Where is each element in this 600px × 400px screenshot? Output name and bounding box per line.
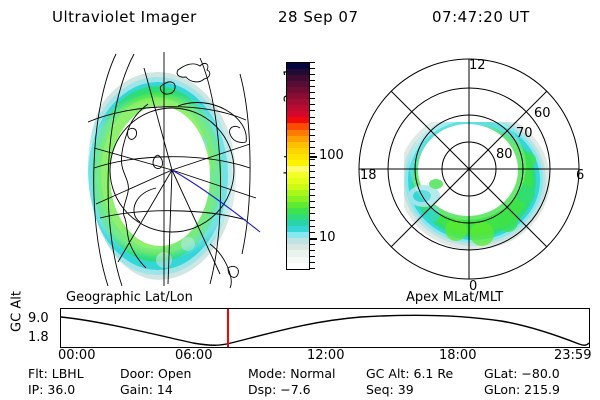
- header-bar: Ultraviolet Imager 28 Sep 07 07:47:20 UT: [0, 8, 600, 32]
- mlt-spokes: [359, 59, 579, 279]
- colorbar-tick: [309, 232, 315, 233]
- colorbar-tick: [309, 117, 315, 118]
- colorbar-gradient: [286, 62, 310, 270]
- colorbar-tick: [309, 135, 315, 136]
- colorbar-tick: [309, 220, 315, 221]
- telemetry-field: Dsp: −7.6: [248, 382, 311, 397]
- colorbar-tick: [309, 68, 315, 69]
- orbit-altitude-plot[interactable]: [60, 308, 590, 348]
- telemetry-field: IP: 36.0: [28, 382, 75, 397]
- geographic-plot: [60, 48, 260, 288]
- mlt-hour-label: 18: [360, 168, 377, 183]
- colorbar-tick: [309, 123, 315, 124]
- magnetic-latitude-label: 60: [534, 106, 551, 121]
- observation-time: 07:47:20 UT: [432, 8, 530, 26]
- orbit-y-tick-low: 1.8: [28, 331, 49, 344]
- colorbar-tick: [309, 201, 315, 202]
- instrument-title: Ultraviolet Imager: [52, 8, 197, 26]
- orbit-altitude-curve: [61, 309, 589, 347]
- colorbar-tick: [309, 195, 315, 196]
- colorbar-tick: [309, 171, 315, 172]
- colorbar-tick: [309, 207, 315, 208]
- colorbar-tick: [309, 262, 315, 263]
- magnetic-latitude-label: 70: [516, 126, 533, 141]
- colorbar-tick: [309, 256, 315, 257]
- caption-apex: Apex MLat/MLT: [406, 290, 503, 305]
- colorbar-tick: [309, 153, 315, 154]
- telemetry-field: Flt: LBHL: [28, 366, 84, 381]
- time-cursor[interactable]: [227, 309, 229, 347]
- telemetry-field: GLat: −80.0: [484, 366, 560, 381]
- colorbar-tick: [309, 62, 315, 63]
- apex-mlt-dial-panel[interactable]: 126018607080: [348, 48, 590, 290]
- mlt-hour-label: 12: [469, 58, 486, 73]
- orbit-y-tick-high: 9.0: [28, 312, 49, 325]
- colorbar-tick: [309, 183, 315, 184]
- colorbar-tick: [309, 80, 315, 81]
- telemetry-field: Mode: Normal: [248, 366, 335, 381]
- colorbar-tick-major: [309, 238, 317, 240]
- colorbar-tick: [309, 268, 315, 269]
- colorbar-tick: [309, 74, 315, 75]
- colorbar-tick: [309, 165, 315, 166]
- colorbar-band: [287, 263, 309, 269]
- caption-geographic: Geographic Lat/Lon: [66, 290, 193, 305]
- colorbar-tick: [309, 177, 315, 178]
- orbit-time-tick: 23:59: [554, 348, 591, 363]
- intensity-colorbar[interactable]: photon cm−2s−1 10010: [266, 56, 346, 282]
- colorbar-tick: [309, 213, 315, 214]
- colorbar-tick-major: [309, 156, 317, 158]
- colorbar-tick: [309, 189, 315, 190]
- orbit-time-tick: 12:00: [307, 348, 344, 363]
- colorbar-tick: [309, 98, 315, 99]
- telemetry-field: Gain: 14: [120, 382, 173, 397]
- mlt-polar-plot: [348, 48, 590, 290]
- geographic-projection-panel[interactable]: [60, 48, 260, 288]
- colorbar-tick: [309, 147, 315, 148]
- colorbar-tick: [309, 244, 315, 245]
- mlt-hour-label: 6: [576, 168, 584, 183]
- telemetry-footer: Flt: LBHLDoor: OpenMode: NormalGC Alt: 6…: [0, 366, 600, 400]
- colorbar-tick-label: 10: [319, 231, 336, 244]
- observation-date: 28 Sep 07: [278, 8, 358, 26]
- orbit-y-axis-label: GC Alt: [10, 289, 25, 335]
- colorbar-tick-label: 100: [319, 149, 344, 162]
- colorbar-tick: [309, 226, 315, 227]
- orbit-time-tick: 00:00: [58, 348, 95, 363]
- colorbar-tick: [309, 250, 315, 251]
- colorbar-tick: [309, 86, 315, 87]
- colorbar-tick: [309, 110, 315, 111]
- telemetry-field: GC Alt: 6.1 Re: [366, 366, 453, 381]
- telemetry-field: Door: Open: [120, 366, 191, 381]
- colorbar-tick: [309, 141, 315, 142]
- orbit-time-tick: 06:00: [175, 348, 212, 363]
- colorbar-tick: [309, 92, 315, 93]
- orbit-time-tick: 18:00: [439, 348, 476, 363]
- telemetry-field: GLon: 215.9: [484, 382, 560, 397]
- colorbar-tick: [309, 159, 315, 160]
- colorbar-tick: [309, 104, 315, 105]
- telemetry-field: Seq: 39: [366, 382, 414, 397]
- colorbar-tick: [309, 129, 315, 130]
- magnetic-latitude-label: 80: [496, 147, 513, 162]
